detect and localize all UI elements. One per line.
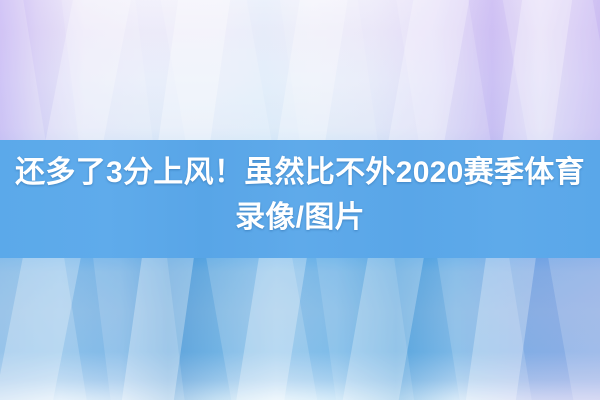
bottom-blue-tint-layer: [0, 258, 600, 400]
top-pastel-tint-layer: [0, 0, 600, 142]
headline-text: 还多了3分上风！虽然比不外2020赛季体育录像/图片: [0, 150, 600, 240]
gradient-banner-image: 还多了3分上风！虽然比不外2020赛季体育录像/图片: [0, 0, 600, 400]
